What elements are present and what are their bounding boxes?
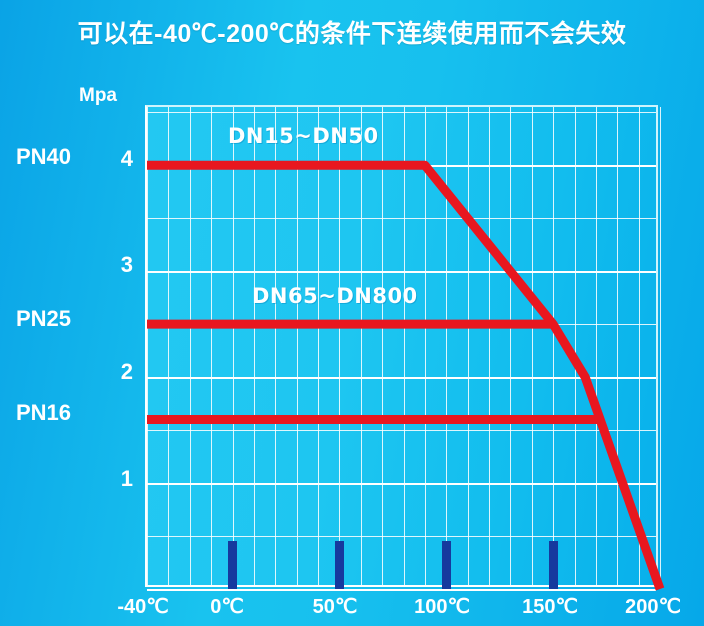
- pn16-label: PN16: [16, 400, 96, 426]
- x-tick-label-50: 50℃: [287, 594, 383, 619]
- y-tick-label-2: 2: [103, 359, 133, 385]
- chart-page: 可以在-40℃-200℃的条件下连续使用而不会失效 Mpa 4 3 2 1 PN…: [0, 0, 704, 626]
- pn40-label: PN40: [16, 144, 96, 170]
- series-note-dn65-dn800: DN65~DN800: [252, 284, 418, 308]
- series-note-dn15-dn50: DN15~DN50: [228, 124, 379, 148]
- x-tick-label-0: 0℃: [182, 594, 272, 619]
- plot-area: DN15~DN50 DN65~DN800: [145, 105, 658, 587]
- x-tick-label-100: 100℃: [392, 594, 492, 619]
- page-title: 可以在-40℃-200℃的条件下连续使用而不会失效: [0, 14, 704, 50]
- x-tick-label-150: 150℃: [500, 594, 600, 619]
- gridline-horizontal-major: [147, 589, 656, 591]
- y-tick-label-1: 1: [103, 466, 133, 492]
- y-axis-unit-label: Mpa: [79, 85, 117, 107]
- pn25-label: PN25: [16, 306, 96, 332]
- x-tick-label-minus40: -40℃: [93, 594, 193, 619]
- series-layer: [147, 107, 660, 589]
- gridline-vertical: [660, 107, 661, 585]
- x-tick-label-200: 200℃: [603, 594, 703, 619]
- series-dn15-dn50-line: [147, 165, 660, 589]
- y-tick-label-4: 4: [103, 146, 133, 172]
- y-tick-label-3: 3: [103, 252, 133, 278]
